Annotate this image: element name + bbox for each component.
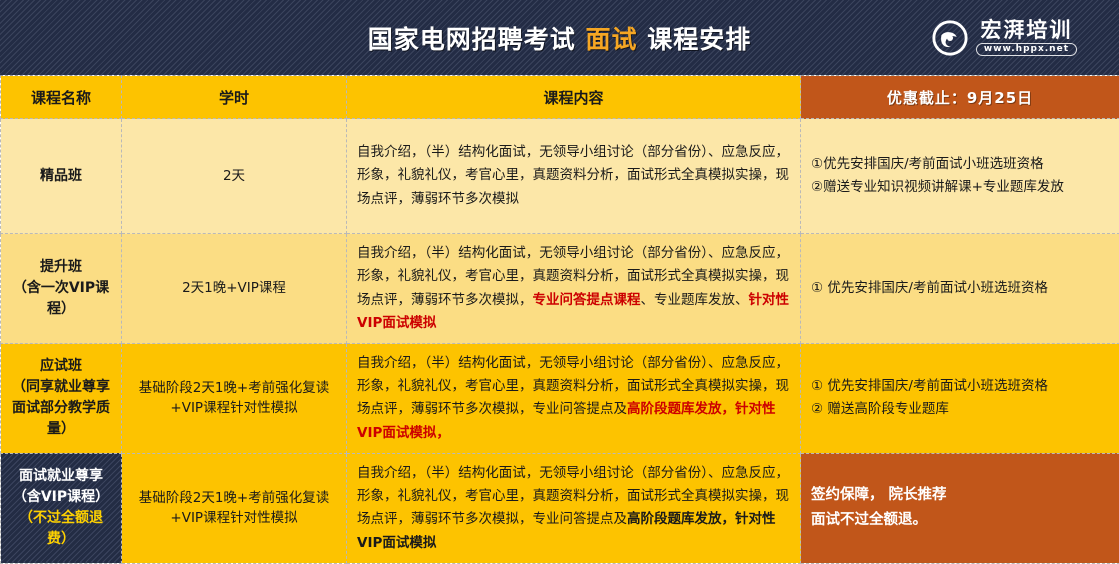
cell-hours: 2天1晚+VIP课程 <box>122 234 347 344</box>
promo-text: ①优先安排国庆/考前面试小班选班资格 ②赠送专业知识视频讲解课+专业题库发放 <box>801 145 1119 207</box>
content-highlight: 专业问答提点课程 <box>533 292 641 308</box>
page-title-part2: 课程安排 <box>647 25 751 54</box>
course-content-text: 自我介绍，（半）结构化面试，无领导小组讨论（部分省份）、应急反应，形象，礼貌礼仪… <box>347 133 800 219</box>
course-name-text: 应试班 （同享就业尊享面试部分教学质量） <box>1 348 121 448</box>
cell-content: 自我介绍，（半）结构化面试，无领导小组讨论（部分省份）、应急反应，形象，礼貌礼仪… <box>347 234 801 344</box>
col-hours: 学时 <box>122 76 347 119</box>
content-plain: 自我介绍，（半）结构化面试，无领导小组讨论（部分省份）、应急反应，形象，礼貌礼仪… <box>357 144 789 206</box>
col-course-name: 课程名称 <box>1 76 122 119</box>
page-title-highlight: 面试 <box>585 25 637 54</box>
bird-circle-logo-icon <box>931 19 969 57</box>
course-name-main: 提升班 <box>11 257 111 278</box>
col-promo: 优惠截止：9月25日 <box>801 76 1119 119</box>
cell-content: 自我介绍，（半）结构化面试，无领导小组讨论（部分省份）、应急反应，形象，礼貌礼仪… <box>347 119 801 234</box>
cell-course-name: 面试就业尊享 （含VIP课程） （不过全额退费） <box>1 453 122 563</box>
header-banner: 国家电网招聘考试 面试 课程安排 宏湃培训 www.hppx.net <box>0 0 1119 75</box>
table-row: 精品班 2天 自我介绍，（半）结构化面试，无领导小组讨论（部分省份）、应急反应，… <box>1 119 1119 234</box>
table-header-row: 课程名称 学时 课程内容 优惠截止：9月25日 <box>1 76 1119 119</box>
table-row: 提升班 （含一次VIP课程） 2天1晚+VIP课程 自我介绍，（半）结构化面试，… <box>1 234 1119 344</box>
course-hours-text: 2天 <box>122 158 346 194</box>
cell-hours: 基础阶段2天1晚+考前强化复读+VIP课程针对性模拟 <box>122 453 347 563</box>
cell-hours: 基础阶段2天1晚+考前强化复读+VIP课程针对性模拟 <box>122 344 347 454</box>
cell-course-name: 精品班 <box>1 119 122 234</box>
course-table: 课程名称 学时 课程内容 优惠截止：9月25日 精品班 2天 自我介绍，（半）结… <box>0 75 1119 564</box>
course-content-text: 自我介绍，（半）结构化面试，无领导小组讨论（部分省份）、应急反应，形象，礼貌礼仪… <box>347 454 800 563</box>
cell-promo: ① 优先安排国庆/考前面试小班选班资格 <box>801 234 1119 344</box>
brand-logo-text: 宏湃培训 www.hppx.net <box>976 20 1077 56</box>
promo-text: 签约保障， 院长推荐 面试不过全额退。 <box>801 475 1119 542</box>
promo-line: ②赠送专业知识视频讲解课+专业题库发放 <box>811 176 1109 199</box>
page-title: 国家电网招聘考试 面试 课程安排 <box>368 20 751 56</box>
brand-name: 宏湃培训 <box>980 20 1072 41</box>
cell-course-name: 应试班 （同享就业尊享面试部分教学质量） <box>1 344 122 454</box>
table-row: 面试就业尊享 （含VIP课程） （不过全额退费） 基础阶段2天1晚+考前强化复读… <box>1 453 1119 563</box>
cell-promo: ① 优先安排国庆/考前面试小班选班资格 ② 赠送高阶段专业题库 <box>801 344 1119 454</box>
cell-promo: ①优先安排国庆/考前面试小班选班资格 ②赠送专业知识视频讲解课+专业题库发放 <box>801 119 1119 234</box>
course-hours-text: 2天1晚+VIP课程 <box>122 270 346 306</box>
course-name-note: （含一次VIP课程） <box>11 278 111 320</box>
course-name-note: （含VIP课程） <box>11 487 111 508</box>
course-schedule-poster: 国家电网招聘考试 面试 课程安排 宏湃培训 www.hppx.net <box>0 0 1119 535</box>
course-hours-text: 基础阶段2天1晚+考前强化复读+VIP课程针对性模拟 <box>122 370 346 427</box>
promo-text: ① 优先安排国庆/考前面试小班选班资格 <box>801 269 1119 308</box>
course-name-note-2: （不过全额退费） <box>11 508 111 550</box>
cell-content: 自我介绍，（半）结构化面试，无领导小组讨论（部分省份）、应急反应，形象，礼貌礼仪… <box>347 453 801 563</box>
course-name-text: 精品班 <box>1 158 121 195</box>
course-name-main: 应试班 <box>11 356 111 377</box>
promo-text: ① 优先安排国庆/考前面试小班选班资格 ② 赠送高阶段专业题库 <box>801 367 1119 429</box>
course-name-text: 提升班 （含一次VIP课程） <box>1 249 121 328</box>
course-content-text: 自我介绍，（半）结构化面试，无领导小组讨论（部分省份）、应急反应，形象，礼貌礼仪… <box>347 344 800 453</box>
promo-line: 签约保障， 院长推荐 <box>811 483 1109 508</box>
cell-hours: 2天 <box>122 119 347 234</box>
course-name-text: 面试就业尊享 （含VIP课程） （不过全额退费） <box>1 458 121 558</box>
col-content: 课程内容 <box>347 76 801 119</box>
course-hours-text: 基础阶段2天1晚+考前强化复读+VIP课程针对性模拟 <box>122 480 346 537</box>
cell-promo: 签约保障， 院长推荐 面试不过全额退。 <box>801 453 1119 563</box>
course-content-text: 自我介绍，（半）结构化面试，无领导小组讨论（部分省份）、应急反应，形象，礼貌礼仪… <box>347 234 800 343</box>
table-row: 应试班 （同享就业尊享面试部分教学质量） 基础阶段2天1晚+考前强化复读+VIP… <box>1 344 1119 454</box>
page-title-part1: 国家电网招聘考试 <box>368 25 576 54</box>
brand-url: www.hppx.net <box>976 43 1077 56</box>
promo-line: ① 优先安排国庆/考前面试小班选班资格 <box>811 375 1109 398</box>
course-name-note: （同享就业尊享面试部分教学质量） <box>11 377 111 440</box>
promo-line: ② 赠送高阶段专业题库 <box>811 398 1109 421</box>
brand-logo: 宏湃培训 www.hppx.net <box>931 19 1077 57</box>
cell-course-name: 提升班 （含一次VIP课程） <box>1 234 122 344</box>
cell-content: 自我介绍，（半）结构化面试，无领导小组讨论（部分省份）、应急反应，形象，礼貌礼仪… <box>347 344 801 454</box>
course-name-main: 面试就业尊享 <box>11 466 111 487</box>
promo-line: ① 优先安排国庆/考前面试小班选班资格 <box>811 277 1109 300</box>
content-mid: 、专业题库发放、 <box>641 292 749 308</box>
promo-line: 面试不过全额退。 <box>811 508 1109 533</box>
promo-line: ①优先安排国庆/考前面试小班选班资格 <box>811 153 1109 176</box>
